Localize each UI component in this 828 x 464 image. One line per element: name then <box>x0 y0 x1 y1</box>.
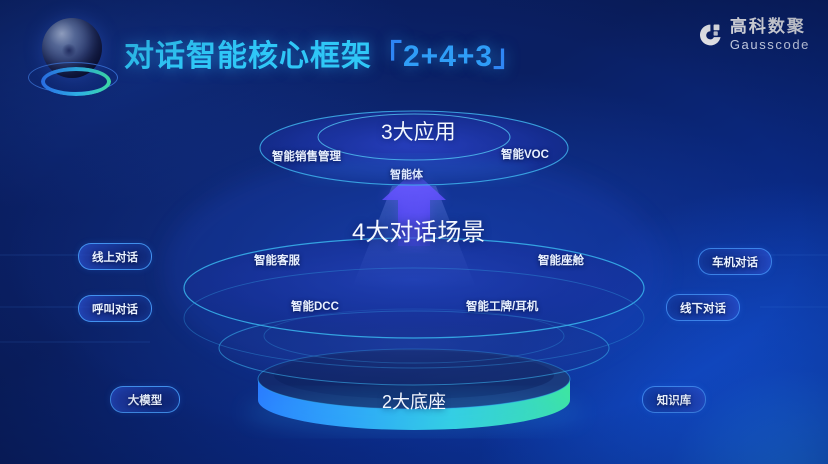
middle-item-3: 智能工牌/耳机 <box>466 298 538 314</box>
gausscode-g-mark-icon <box>697 22 723 48</box>
middle-layer-title: 4大对话场景 <box>352 212 485 247</box>
middle-item-0: 智能客服 <box>254 252 300 268</box>
bracket-close: 」 <box>493 40 524 73</box>
agent-label: 智能体 <box>390 166 423 182</box>
brand-name-cn: 高科数聚 <box>730 18 810 35</box>
brand-name-en: Gausscode <box>730 38 810 51</box>
title-formula: 2+4+3 <box>403 40 493 73</box>
top-item-0: 智能销售管理 <box>272 148 341 164</box>
middle-item-2: 智能DCC <box>291 298 339 314</box>
side-label-left-2[interactable]: 大模型 <box>110 386 180 413</box>
top-layer-title: 3大应用 <box>381 116 456 146</box>
side-label-left-0[interactable]: 线上对话 <box>78 243 152 270</box>
sphere-logo-graphic <box>22 12 118 104</box>
slide-canvas: 对话智能核心框架「2+4+3」 高科数聚 Gausscode 3大应用 智能销售… <box>0 0 828 464</box>
page-title-prefix: 对话智能核心框架 <box>124 40 372 73</box>
side-label-right-0[interactable]: 车机对话 <box>698 248 772 275</box>
bottom-layer-title: 2大底座 <box>382 388 446 414</box>
side-label-left-1[interactable]: 呼叫对话 <box>78 295 152 322</box>
brand-logo: 高科数聚 Gausscode <box>697 18 810 51</box>
page-title: 对话智能核心框架「2+4+3」 <box>124 31 524 75</box>
top-item-1: 智能VOC <box>501 146 549 162</box>
bracket-open: 「 <box>372 40 403 73</box>
brand-logo-text: 高科数聚 Gausscode <box>730 18 810 51</box>
sphere-inner-ring <box>41 67 111 96</box>
side-label-right-2[interactable]: 知识库 <box>642 386 706 413</box>
side-label-right-1[interactable]: 线下对话 <box>666 294 740 321</box>
middle-item-1: 智能座舱 <box>538 252 584 268</box>
